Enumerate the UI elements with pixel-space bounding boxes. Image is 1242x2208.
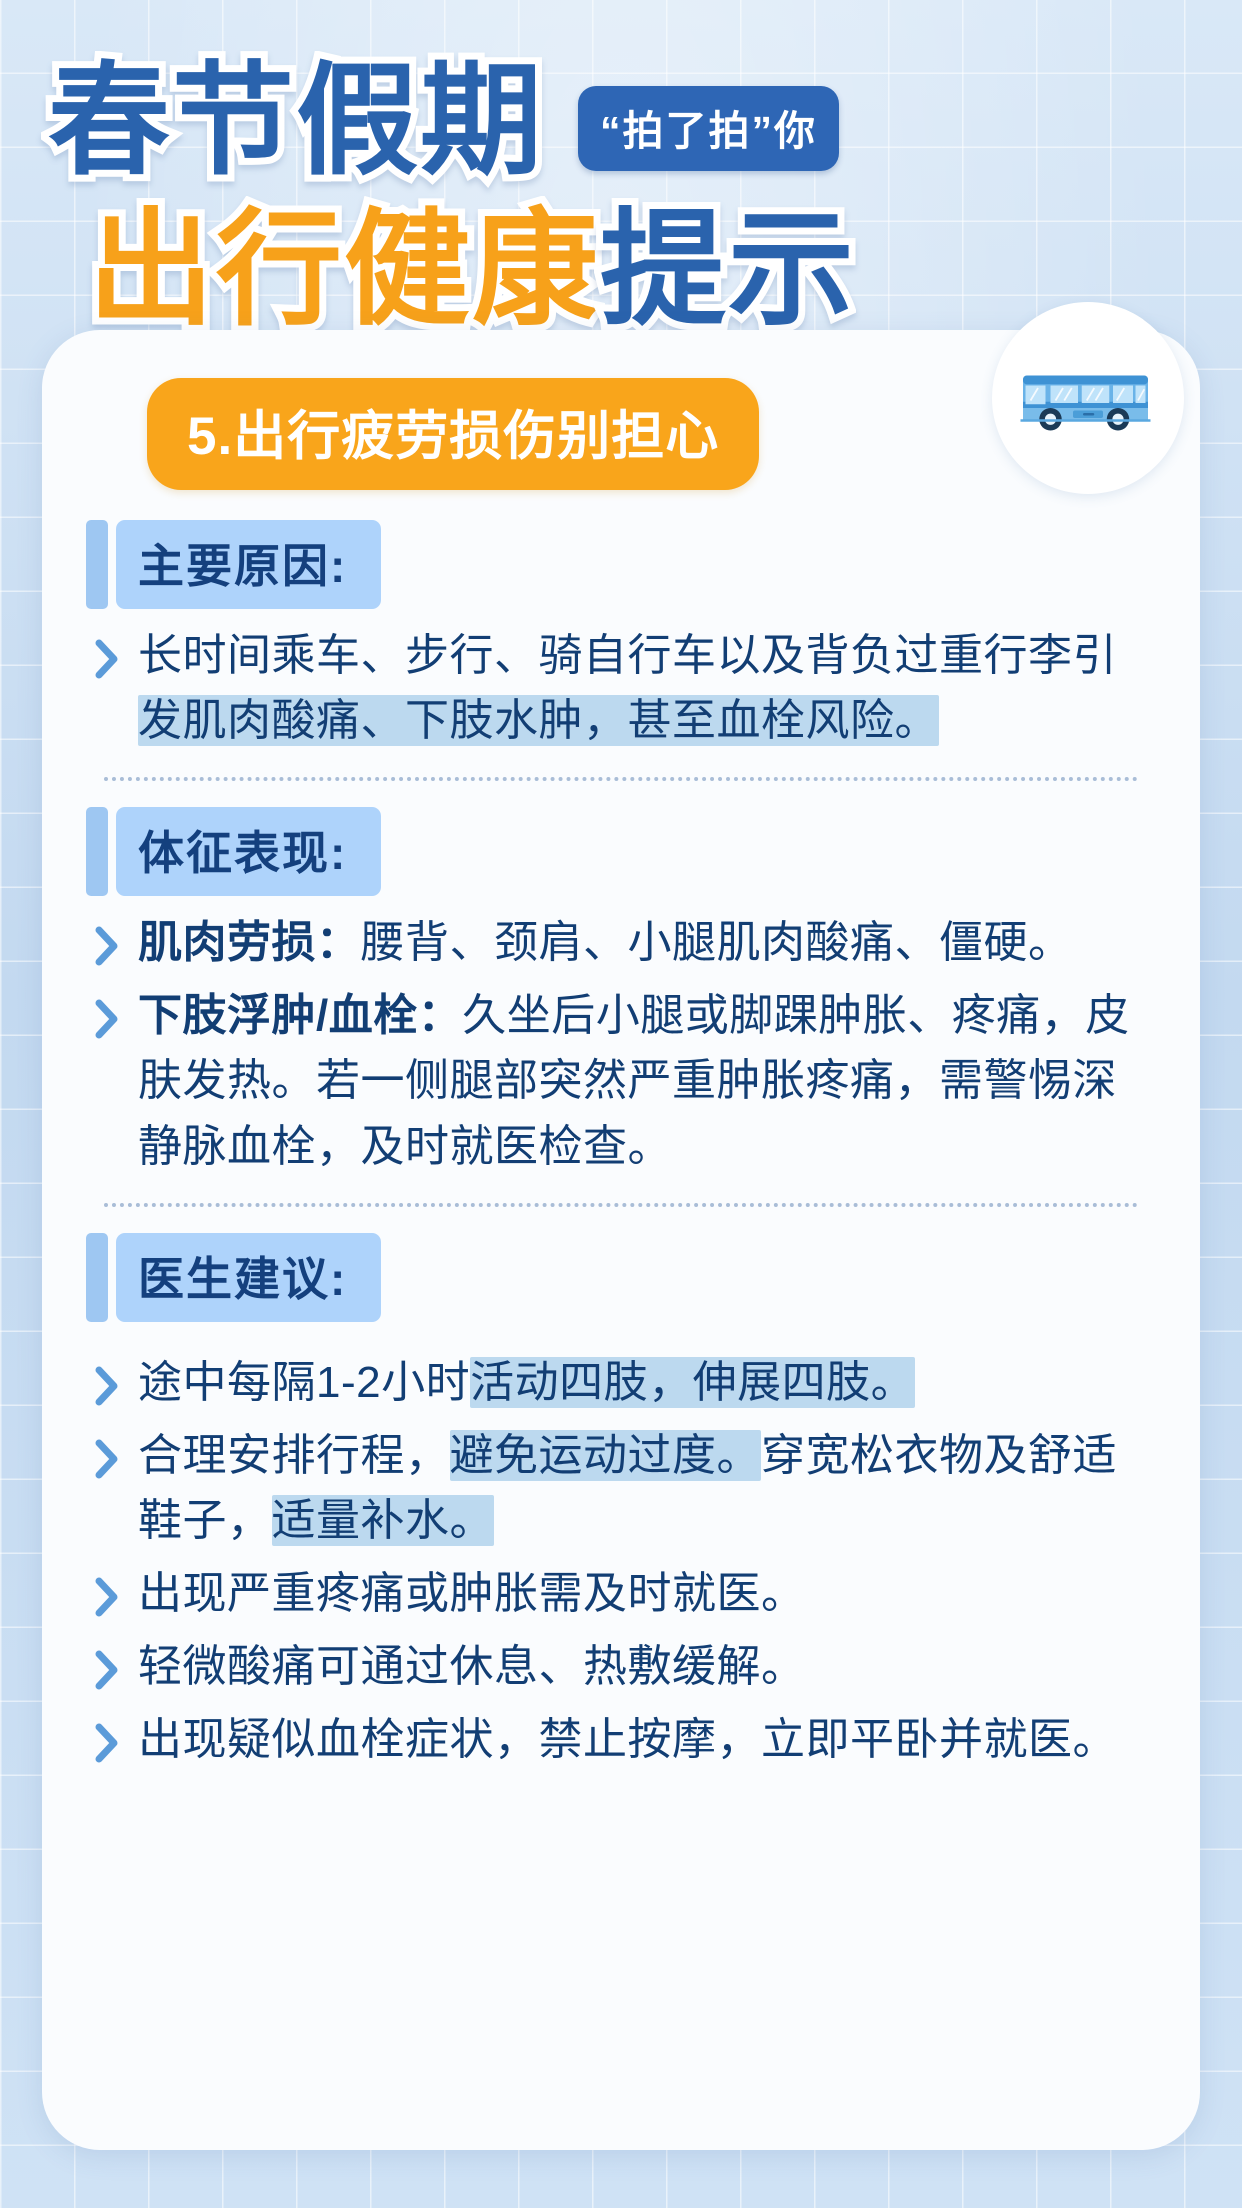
list-item-text: 长时间乘车、步行、骑自行车以及背负过重行李引发肌肉酸痛、下肢水肿，甚至血栓风险。 (138, 623, 1156, 753)
list-item-lead: 肌肉劳损： (138, 918, 361, 967)
heading-label: 医生建议: (116, 1233, 381, 1322)
chevron-icon (86, 1350, 138, 1406)
headline-travel-health: 出行健康 (88, 199, 600, 340)
heading-accent-bar (86, 807, 108, 896)
content-card: 5.出行疲劳损伤别担心 主要原因: 长时间乘车、步行、骑自行车以及背负过重行李引… (42, 330, 1200, 2150)
headline-tips: 提示 (600, 199, 856, 340)
highlighted-text: 适量补水。 (272, 1495, 495, 1546)
section-main-causes: 主要原因: 长时间乘车、步行、骑自行车以及背负过重行李引发肌肉酸痛、下肢水肿，甚… (86, 520, 1156, 753)
section-heading-signs: 体征表现: (86, 807, 1156, 896)
chevron-icon (86, 1707, 138, 1763)
list-item-text: 下肢浮肿/血栓：久坐后小腿或脚踝肿胀、疼痛，皮肤发热。若一侧腿部突然严重肿胀疼痛… (138, 983, 1156, 1178)
heading-accent-bar (86, 1233, 108, 1322)
heading-label: 主要原因: (116, 520, 381, 609)
plain-text: 途中每隔1-2小时 (138, 1358, 470, 1407)
list-item: 肌肉劳损：腰背、颈肩、小腿肌肉酸痛、僵硬。 (86, 910, 1156, 975)
highlighted-text: 发肌肉酸痛、下肢水肿，甚至血栓风险。 (138, 695, 939, 746)
plain-text: 长时间乘车、步行、骑自行车以及背负过重行李引 (138, 631, 1117, 680)
card-body: 主要原因: 长时间乘车、步行、骑自行车以及背负过重行李引发肌肉酸痛、下肢水肿，甚… (42, 520, 1200, 1780)
highlighted-text: 活动四肢，伸展四肢。 (470, 1357, 915, 1408)
heading-accent-bar (86, 520, 108, 609)
list-item: 长时间乘车、步行、骑自行车以及背负过重行李引发肌肉酸痛、下肢水肿，甚至血栓风险。 (86, 623, 1156, 753)
list-item-text: 肌肉劳损：腰背、颈肩、小腿肌肉酸痛、僵硬。 (138, 910, 1156, 975)
list-item-text: 途中每隔1-2小时活动四肢，伸展四肢。 (138, 1350, 1156, 1415)
divider (104, 777, 1138, 781)
heading-label: 体征表现: (116, 807, 381, 896)
list-item-text: 出现疑似血栓症状，禁止按摩，立即平卧并就医。 (138, 1707, 1156, 1772)
highlighted-text: 避免运动过度。 (450, 1430, 762, 1481)
list-item: 轻微酸痛可通过休息、热敷缓解。 (86, 1634, 1156, 1699)
list-item-lead: 下肢浮肿/血栓： (138, 991, 462, 1040)
chevron-icon (86, 1634, 138, 1690)
section-title-pill: 5.出行疲劳损伤别担心 (147, 378, 759, 490)
pat-badge: “拍了拍”你 (578, 86, 839, 171)
plain-text: 出现严重疼痛或肿胀需及时就医。 (138, 1569, 806, 1618)
chevron-icon (86, 983, 138, 1039)
headline-line-2: 出行健康提示 (88, 168, 856, 350)
chevron-icon (86, 910, 138, 966)
chevron-icon (86, 1561, 138, 1617)
list-item: 出现疑似血栓症状，禁止按摩，立即平卧并就医。 (86, 1707, 1156, 1772)
chevron-icon (86, 1423, 138, 1479)
chevron-icon (86, 623, 138, 679)
divider (104, 1203, 1138, 1207)
section-doctor-advice: 医生建议: 途中每隔1-2小时活动四肢，伸展四肢。 合理安排行程，避免运动过度。… (86, 1233, 1156, 1773)
list-item-text: 合理安排行程，避免运动过度。穿宽松衣物及舒适鞋子，适量补水。 (138, 1423, 1156, 1553)
bus-icon (1013, 323, 1163, 473)
plain-text: 合理安排行程， (138, 1431, 450, 1480)
section-signs: 体征表现: 肌肉劳损：腰背、颈肩、小腿肌肉酸痛、僵硬。 下肢浮肿/血栓：久坐后小… (86, 807, 1156, 1178)
list-item: 出现严重疼痛或肿胀需及时就医。 (86, 1561, 1156, 1626)
list-item: 合理安排行程，避免运动过度。穿宽松衣物及舒适鞋子，适量补水。 (86, 1423, 1156, 1553)
plain-text: 腰背、颈肩、小腿肌肉酸痛、僵硬。 (361, 918, 1073, 967)
plain-text: 轻微酸痛可通过休息、热敷缓解。 (138, 1642, 806, 1691)
section-heading-doctor-advice: 医生建议: (86, 1233, 1156, 1322)
bus-illustration-circle (992, 302, 1184, 494)
list-item-text: 出现严重疼痛或肿胀需及时就医。 (138, 1561, 1156, 1626)
list-item: 下肢浮肿/血栓：久坐后小腿或脚踝肿胀、疼痛，皮肤发热。若一侧腿部突然严重肿胀疼痛… (86, 983, 1156, 1178)
list-item: 途中每隔1-2小时活动四肢，伸展四肢。 (86, 1350, 1156, 1415)
plain-text: 出现疑似血栓症状，禁止按摩，立即平卧并就医。 (138, 1715, 1117, 1764)
list-item-text: 轻微酸痛可通过休息、热敷缓解。 (138, 1634, 1156, 1699)
section-heading-main-causes: 主要原因: (86, 520, 1156, 609)
